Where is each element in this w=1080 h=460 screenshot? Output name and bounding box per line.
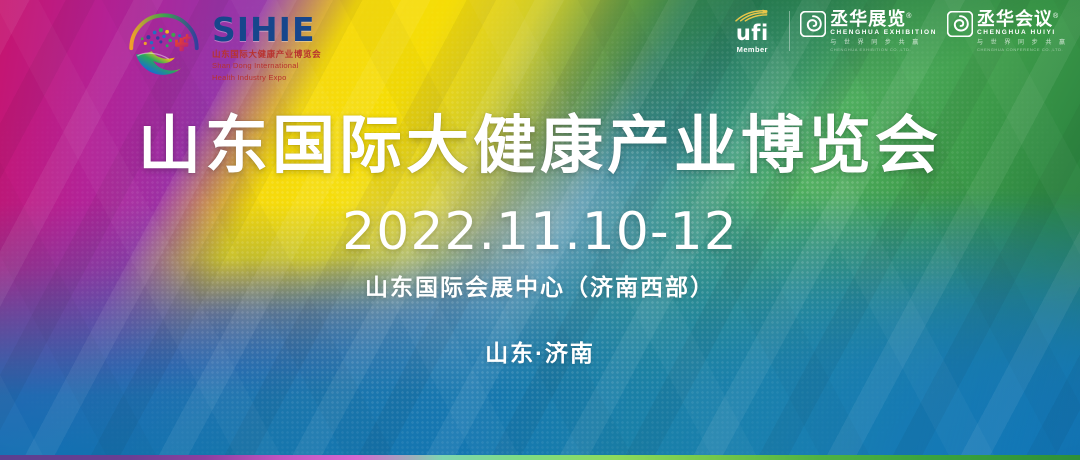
chenghua-huiyi-en: CHENGHUA HUIYI bbox=[977, 30, 1068, 37]
event-date: 2022.11.10-12 bbox=[0, 202, 1080, 262]
chenghua-spiral-icon bbox=[800, 11, 826, 37]
chenghua-exhibition-en: CHENGHUA EXHIBITION bbox=[830, 30, 937, 37]
bottom-colour-band bbox=[0, 455, 1080, 460]
chenghua-exhibition-cn: 丞华展览® bbox=[830, 10, 937, 28]
chenghua-exhibition-tag2: CHENGHUA EXHIBITION CO.,LTD. bbox=[830, 48, 937, 52]
chenghua-huiyi-cn: 丞华会议® bbox=[977, 10, 1068, 28]
chenghua-huiyi-logo: 丞华会议® CHENGHUA HUIYI 与 世 界 同 步 共 赢 CHENG… bbox=[947, 10, 1068, 52]
sihie-english-subtitle-line2: Health Industry Expo bbox=[212, 73, 321, 83]
sihie-english-subtitle-line1: Shan Dong International bbox=[212, 61, 321, 71]
poster-centre-block: 山东国际大健康产业博览会 2022.11.10-12 山东国际会展中心（济南西部… bbox=[0, 112, 1080, 368]
ufi-wordmark: ufi bbox=[736, 24, 769, 44]
chenghua-huiyi-tag: 与 世 界 同 步 共 赢 bbox=[977, 40, 1068, 46]
sihie-wordmark: SIHIE bbox=[212, 13, 321, 46]
partner-divider-1 bbox=[789, 11, 790, 51]
registered-mark-2: ® bbox=[1053, 13, 1059, 20]
sihie-emblem-icon bbox=[124, 6, 204, 84]
ufi-member-label: Member bbox=[737, 45, 768, 54]
sihie-chinese-subtitle: 山东国际大健康产业博览会 bbox=[212, 50, 321, 59]
event-poster: SIHIE 山东国际大健康产业博览会 Shan Dong Internation… bbox=[0, 0, 1080, 460]
partner-logo-strip: ufi Member 丞华展览® CHENGHUA EXHIBITION 与 世… bbox=[725, 8, 1068, 54]
registered-mark-1: ® bbox=[906, 13, 912, 20]
ufi-logo: ufi Member bbox=[725, 8, 779, 54]
chenghua-exhibition-cn-text: 丞华展览 bbox=[830, 9, 906, 29]
event-title: 山东国际大健康产业博览会 bbox=[0, 112, 1080, 180]
sihie-logo-lockup: SIHIE 山东国际大健康产业博览会 Shan Dong Internation… bbox=[124, 6, 321, 84]
sihie-text-block: SIHIE 山东国际大健康产业博览会 Shan Dong Internation… bbox=[212, 7, 321, 83]
chenghua-huiyi-tag2: CHENGHUA CONFERENCE CO.,LTD. bbox=[977, 48, 1068, 52]
chenghua-exhibition-text: 丞华展览® CHENGHUA EXHIBITION 与 世 界 同 步 共 赢 … bbox=[830, 10, 937, 52]
event-city: 山东·济南 bbox=[0, 334, 1080, 368]
chenghua-spiral-icon bbox=[947, 11, 973, 37]
chenghua-huiyi-cn-text: 丞华会议 bbox=[977, 9, 1053, 29]
chenghua-exhibition-tag: 与 世 界 同 步 共 赢 bbox=[830, 40, 937, 46]
chenghua-exhibition-logo: 丞华展览® CHENGHUA EXHIBITION 与 世 界 同 步 共 赢 … bbox=[800, 10, 937, 52]
event-venue: 山东国际会展中心（济南西部） bbox=[0, 268, 1080, 302]
chenghua-huiyi-text: 丞华会议® CHENGHUA HUIYI 与 世 界 同 步 共 赢 CHENG… bbox=[977, 10, 1068, 52]
